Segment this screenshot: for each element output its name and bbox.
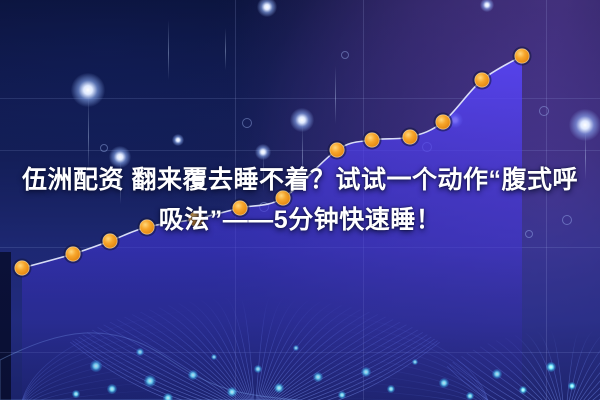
promo-banner: 伍洲配资 翻来覆去睡不着？试试一个动作“腹式呼 吸法”——5分钟快速睡！ xyxy=(0,0,600,400)
chart-marker-7 xyxy=(330,143,344,157)
chart-marker-12 xyxy=(515,49,529,63)
page-title: 伍洲配资 翻来覆去睡不着？试试一个动作“腹式呼 吸法”——5分钟快速睡！ xyxy=(0,160,600,240)
chart-marker-1 xyxy=(66,247,80,261)
chart-marker-8 xyxy=(365,133,379,147)
chart-marker-0 xyxy=(15,261,29,275)
headline-line-2: 吸法”——5分钟快速睡！ xyxy=(159,206,441,234)
chart-marker-10 xyxy=(436,115,450,129)
headline-line-1: 伍洲配资 翻来覆去睡不着？试试一个动作“腹式呼 xyxy=(22,166,578,194)
chart-marker-11 xyxy=(475,73,489,87)
chart-marker-9 xyxy=(403,130,417,144)
